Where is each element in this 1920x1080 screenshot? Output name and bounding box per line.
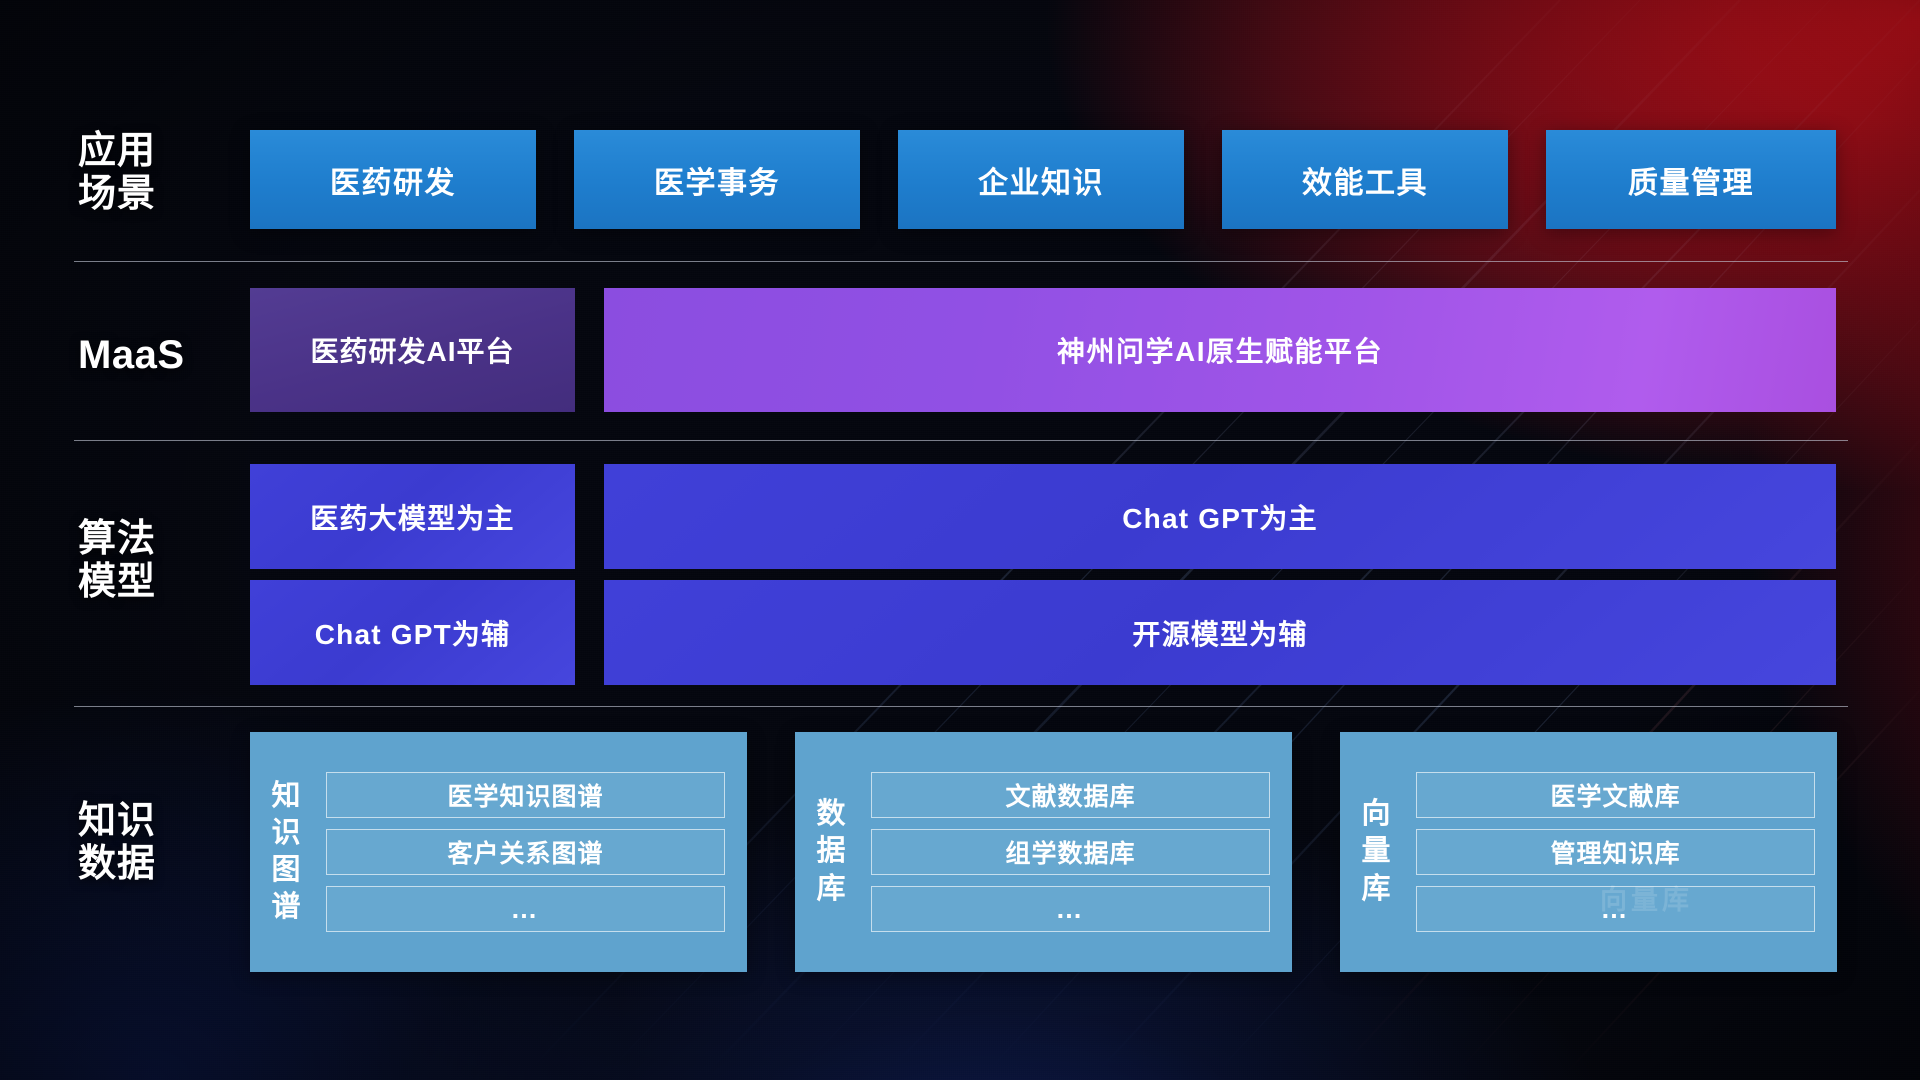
- knowledge-group-title-char-1-4: 谱: [271, 889, 300, 926]
- app-scenario-box-4[interactable]: 效能工具: [1222, 130, 1508, 229]
- row-label-application: 应用 场景: [78, 130, 228, 215]
- algorithm-box-secondary-chatgpt[interactable]: Chat GPT为辅: [250, 580, 575, 685]
- algorithm-label-primary-medical: 医药大模型为主: [310, 497, 514, 537]
- knowledge-group-title-vector-store: 向 量 库: [1340, 796, 1412, 907]
- app-scenario-label-4: 效能工具: [1302, 158, 1428, 202]
- knowledge-item-management-knowledge-store[interactable]: 管理知识库: [1416, 829, 1815, 875]
- knowledge-item-more-3[interactable]: …: [1416, 886, 1815, 932]
- knowledge-group-knowledge-graph[interactable]: 知 识 图 谱 医学知识图谱 客户关系图谱 …: [250, 732, 747, 972]
- knowledge-group-title-char-3-2: 量: [1361, 833, 1390, 870]
- knowledge-group-items-knowledge-graph: 医学知识图谱 客户关系图谱 …: [322, 753, 747, 951]
- algorithm-label-secondary-opensource: 开源模型为辅: [1132, 613, 1307, 653]
- app-scenario-label-3: 企业知识: [978, 158, 1104, 202]
- app-scenario-box-1[interactable]: 医药研发: [250, 130, 536, 229]
- divider-algorithm-knowledge: [74, 706, 1848, 707]
- maas-platform-label-left: 医药研发AI平台: [310, 330, 514, 370]
- knowledge-item-label-1-1: 医学知识图谱: [447, 777, 603, 813]
- knowledge-item-label-3-2: 管理知识库: [1550, 834, 1680, 870]
- algorithm-label-secondary-chatgpt: Chat GPT为辅: [315, 613, 511, 653]
- knowledge-group-title-char-2-2: 据: [816, 833, 845, 870]
- divider-maas-algorithm: [74, 440, 1848, 441]
- row-label-maas-text: MaaS: [78, 333, 228, 378]
- knowledge-group-title-char-1-2: 识: [271, 815, 300, 852]
- algorithm-label-primary-chatgpt: Chat GPT为主: [1122, 497, 1318, 537]
- knowledge-item-label-1-2: 客户关系图谱: [447, 834, 603, 870]
- knowledge-item-medical-literature-store[interactable]: 医学文献库: [1416, 772, 1815, 818]
- divider-application-maas: [74, 261, 1848, 262]
- knowledge-group-title-char-1-1: 知: [271, 778, 300, 815]
- knowledge-item-label-2-3: …: [1056, 894, 1086, 925]
- maas-platform-label-right: 神州问学AI原生赋能平台: [1057, 330, 1383, 370]
- knowledge-group-title-char-3-3: 库: [1361, 871, 1390, 908]
- algorithm-box-primary-chatgpt[interactable]: Chat GPT为主: [604, 464, 1836, 569]
- diagram-stage: 应用 场景 医药研发 医学事务 企业知识 效能工具 质量管理 MaaS 医药研发…: [0, 0, 1920, 1080]
- row-label-application-line2: 场景: [78, 173, 228, 216]
- knowledge-item-label-1-3: …: [511, 894, 541, 925]
- knowledge-group-items-vector-store: 医学文献库 管理知识库 …: [1412, 753, 1837, 951]
- knowledge-group-vector-store[interactable]: 向 量 库 医学文献库 管理知识库 …: [1340, 732, 1837, 972]
- row-label-algorithm-line1: 算法: [78, 518, 228, 561]
- row-label-algorithm: 算法 模型: [78, 518, 228, 603]
- app-scenario-label-5: 质量管理: [1628, 158, 1754, 202]
- knowledge-item-more-1[interactable]: …: [326, 886, 725, 932]
- app-scenario-box-3[interactable]: 企业知识: [898, 130, 1184, 229]
- maas-platform-box-left[interactable]: 医药研发AI平台: [250, 288, 575, 412]
- row-label-knowledge: 知识 数据: [78, 800, 228, 885]
- knowledge-group-title-knowledge-graph: 知 识 图 谱: [250, 778, 322, 926]
- row-label-application-line1: 应用: [78, 130, 228, 173]
- knowledge-item-more-2[interactable]: …: [871, 886, 1270, 932]
- knowledge-item-label-2-2: 组学数据库: [1005, 834, 1135, 870]
- row-label-maas: MaaS: [78, 333, 228, 378]
- app-scenario-box-5[interactable]: 质量管理: [1546, 130, 1836, 229]
- knowledge-item-literature-database[interactable]: 文献数据库: [871, 772, 1270, 818]
- knowledge-group-title-char-2-3: 库: [816, 871, 845, 908]
- algorithm-box-primary-medical[interactable]: 医药大模型为主: [250, 464, 575, 569]
- algorithm-box-secondary-opensource[interactable]: 开源模型为辅: [604, 580, 1836, 685]
- knowledge-item-customer-relation-graph[interactable]: 客户关系图谱: [326, 829, 725, 875]
- app-scenario-label-1: 医药研发: [330, 158, 456, 202]
- knowledge-item-label-2-1: 文献数据库: [1005, 777, 1135, 813]
- app-scenario-box-2[interactable]: 医学事务: [574, 130, 860, 229]
- maas-platform-box-right[interactable]: 神州问学AI原生赋能平台: [604, 288, 1836, 412]
- knowledge-item-label-3-3: …: [1601, 894, 1631, 925]
- knowledge-group-title-database: 数 据 库: [795, 796, 867, 907]
- row-label-knowledge-line1: 知识: [78, 800, 228, 843]
- knowledge-group-items-database: 文献数据库 组学数据库 …: [867, 753, 1292, 951]
- row-label-knowledge-line2: 数据: [78, 843, 228, 886]
- knowledge-group-title-char-3-1: 向: [1361, 796, 1390, 833]
- knowledge-item-medical-knowledge-graph[interactable]: 医学知识图谱: [326, 772, 725, 818]
- knowledge-item-label-3-1: 医学文献库: [1550, 777, 1680, 813]
- app-scenario-label-2: 医学事务: [654, 158, 780, 202]
- knowledge-item-omics-database[interactable]: 组学数据库: [871, 829, 1270, 875]
- knowledge-group-database[interactable]: 数 据 库 文献数据库 组学数据库 …: [795, 732, 1292, 972]
- row-label-algorithm-line2: 模型: [78, 561, 228, 604]
- knowledge-group-title-char-2-1: 数: [816, 796, 845, 833]
- knowledge-group-title-char-1-3: 图: [271, 852, 300, 889]
